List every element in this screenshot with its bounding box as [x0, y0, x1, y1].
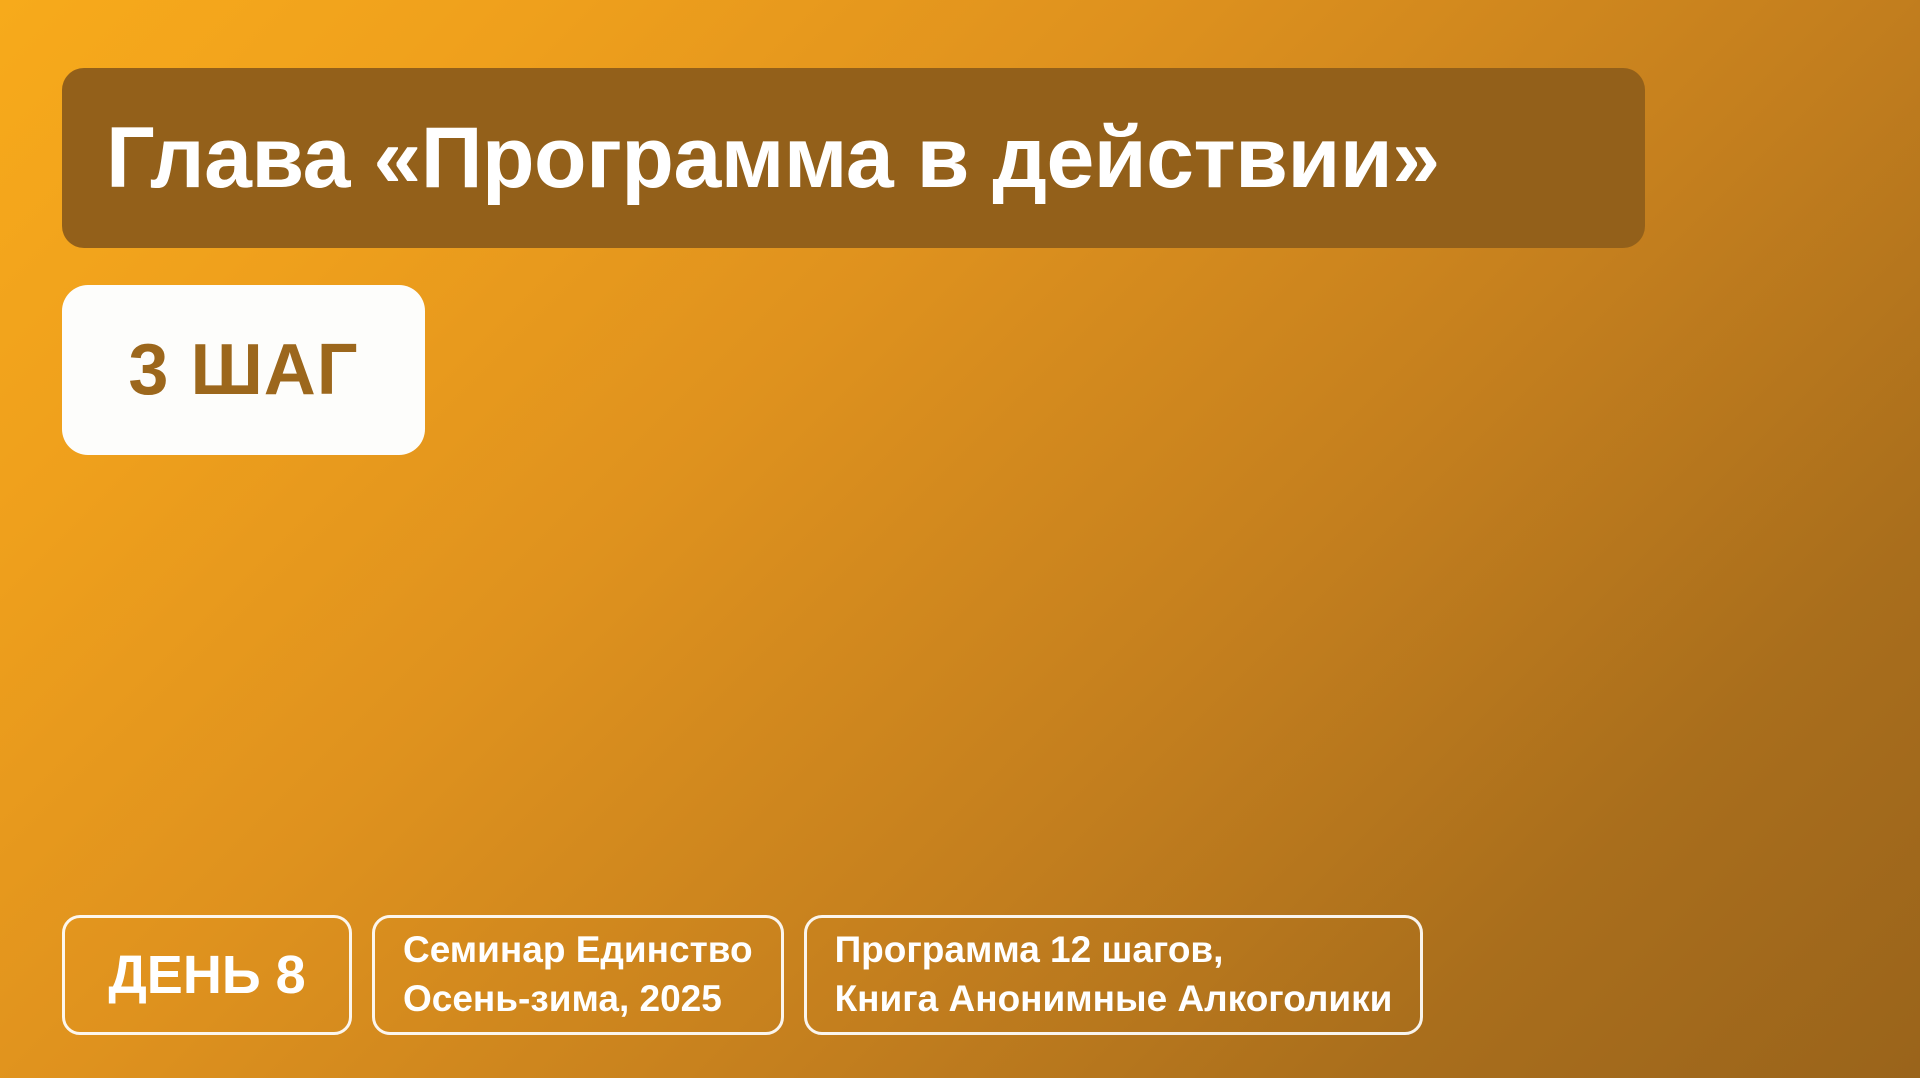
footer-badge-row: ДЕНЬ 8 Семинар Единство Осень-зима, 2025… [62, 915, 1423, 1035]
program-badge-line-1: Программа 12 шагов, [835, 926, 1224, 975]
step-number-badge: 3 ШАГ [62, 285, 425, 455]
day-badge-label: ДЕНЬ 8 [108, 948, 305, 1002]
slide-canvas: Глава «Программа в действии» 3 ШАГ ДЕНЬ … [0, 0, 1920, 1078]
program-badge-line-2: Книга Анонимные Алкоголики [835, 975, 1393, 1024]
program-badge: Программа 12 шагов, Книга Анонимные Алко… [804, 915, 1424, 1035]
chapter-title-text: Глава «Программа в действии» [106, 115, 1440, 201]
chapter-title-banner: Глава «Программа в действии» [62, 68, 1645, 248]
step-number-label: 3 ШАГ [128, 334, 358, 406]
seminar-badge: Семинар Единство Осень-зима, 2025 [372, 915, 784, 1035]
seminar-badge-line-1: Семинар Единство [403, 926, 753, 975]
seminar-badge-line-2: Осень-зима, 2025 [403, 975, 722, 1024]
day-badge: ДЕНЬ 8 [62, 915, 352, 1035]
